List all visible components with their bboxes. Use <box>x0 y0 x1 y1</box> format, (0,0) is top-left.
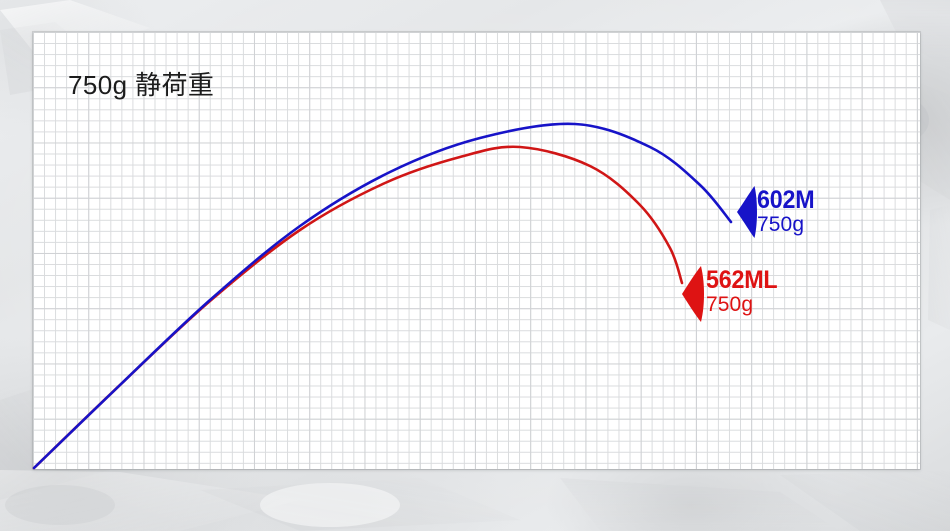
curve-602m <box>34 124 731 468</box>
callout-602m: 602M 750g <box>757 188 819 236</box>
left-arrow-icon-562ml <box>681 266 705 322</box>
chart-canvas: 750g 静荷重 602M 750g 562ML 750g <box>0 0 950 531</box>
curve-562ml <box>34 147 682 468</box>
callout-562ml: 562ML 750g <box>706 268 783 316</box>
page-title: 750g 静荷重 <box>68 72 214 98</box>
callout-562ml-weight: 750g <box>706 293 783 316</box>
left-arrow-icon-602m <box>736 186 758 238</box>
callout-602m-model: 602M <box>757 188 814 213</box>
callout-562ml-model: 562ML <box>706 268 777 293</box>
callout-602m-weight: 750g <box>757 213 819 236</box>
